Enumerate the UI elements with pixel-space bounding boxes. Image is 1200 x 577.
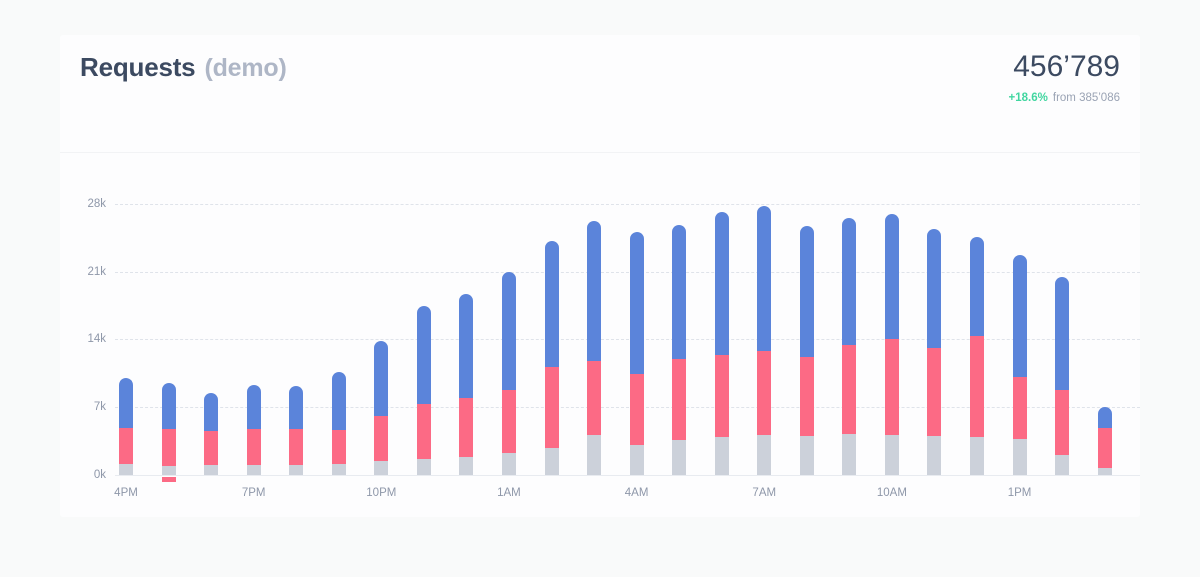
- card-header: Requests (demo) 456’789 +18.6%from 385’0…: [60, 35, 1140, 152]
- chart-bar-segment-cached: [289, 465, 303, 475]
- chart-bar-segment-cached: [417, 459, 431, 475]
- chart-bar-segment-errors: [587, 361, 601, 436]
- chart-bar[interactable]: [459, 294, 473, 475]
- chart-bar[interactable]: [247, 385, 261, 475]
- chart-bar-segment-ok: [885, 214, 899, 339]
- chart-bar-segment-ok: [842, 218, 856, 345]
- chart-bar[interactable]: [672, 225, 686, 475]
- chart-bar-segment-ok: [800, 226, 814, 357]
- x-axis-tick-label: 10AM: [877, 487, 907, 499]
- chart-bar-segment-ok: [289, 386, 303, 429]
- chart-bar[interactable]: [715, 212, 729, 475]
- chart-bar-segment-cached: [630, 445, 644, 475]
- chart-baseline: [115, 475, 1140, 476]
- page-background: Requests (demo) 456’789 +18.6%from 385’0…: [0, 0, 1200, 577]
- chart-bar-segment-cached: [715, 437, 729, 475]
- metric-total-value: 456’789: [1009, 49, 1120, 85]
- chart-bar[interactable]: [545, 241, 559, 475]
- delta-percent-badge: +18.6%: [1009, 92, 1048, 104]
- chart-bar-segment-errors: [757, 351, 771, 435]
- chart-bar-segment-errors: [842, 345, 856, 434]
- chart-bar-segment-ok: [587, 221, 601, 361]
- chart-bar-segment-errors: [545, 367, 559, 447]
- chart-bar-segment-cached: [459, 457, 473, 475]
- chart-bar-segment-ok: [417, 306, 431, 404]
- chart-bar-segment-cached: [672, 440, 686, 475]
- chart-bar-segment-cached: [970, 437, 984, 475]
- chart-bar-segment-cached: [757, 435, 771, 475]
- delta-previous-value: from 385’086: [1053, 92, 1120, 104]
- chart-bar-segment-ok: [374, 341, 388, 416]
- chart-bar-segment-cached: [1055, 455, 1069, 475]
- chart-bar-segment-ok: [630, 232, 644, 374]
- x-axis-tick-label: 7AM: [752, 487, 776, 499]
- chart-bar-segment-errors: [800, 357, 814, 436]
- requests-card: Requests (demo) 456’789 +18.6%from 385’0…: [60, 35, 1140, 517]
- chart-bar-segment-cached: [502, 453, 516, 475]
- card-title-subtitle: (demo): [204, 54, 286, 83]
- card-title-main: Requests: [80, 52, 195, 83]
- chart-bar-segment-cached: [800, 436, 814, 475]
- chart-bar-segment-cached: [885, 435, 899, 475]
- chart-bar-segment-ok: [119, 378, 133, 427]
- chart-bar[interactable]: [204, 393, 218, 475]
- chart-gridline: [115, 272, 1140, 273]
- chart-bar-segment-errors: [672, 359, 686, 440]
- chart-bar-segment-ok: [204, 393, 218, 432]
- chart-bar[interactable]: [332, 372, 346, 475]
- x-axis-tick-label: 7PM: [242, 487, 266, 499]
- y-axis-tick-label: 28k: [46, 198, 106, 210]
- chart-bar-segment-ok: [715, 212, 729, 354]
- x-axis-tick-label: 1PM: [1008, 487, 1032, 499]
- chart-bar-segment-ok: [1098, 407, 1112, 427]
- y-axis-tick-label: 7k: [46, 401, 106, 413]
- chart-bar[interactable]: [1013, 255, 1027, 475]
- chart-bar-segment-errors: [715, 355, 729, 437]
- chart-bar-segment-errors: [332, 430, 346, 464]
- chart-bar[interactable]: [842, 218, 856, 475]
- chart-bar[interactable]: [800, 226, 814, 475]
- chart-bar[interactable]: [757, 206, 771, 475]
- chart-bar-segment-cached: [374, 461, 388, 475]
- requests-bar-chart: 0k7k14k21k28k4PM7PM10PM1AM4AM7AM10AM1PM: [60, 152, 1140, 517]
- page-title: Requests (demo): [80, 52, 287, 83]
- y-axis-tick-label: 21k: [46, 266, 106, 278]
- chart-bar-segment-cached: [1013, 439, 1027, 475]
- x-axis-tick-label: 4PM: [114, 487, 138, 499]
- chart-bar-segment-errors: [119, 428, 133, 465]
- metric-summary: 456’789 +18.6%from 385’086: [1009, 49, 1120, 105]
- chart-bar-segment-ok: [332, 372, 346, 430]
- metric-delta: +18.6%from 385’086: [1009, 91, 1120, 105]
- chart-gridline: [115, 407, 1140, 408]
- chart-bar-segment-errors: [247, 429, 261, 466]
- chart-bar-segment-ok: [1055, 277, 1069, 389]
- x-axis-tick-label: 1AM: [497, 487, 521, 499]
- chart-bar-segment-ok: [1013, 255, 1027, 377]
- chart-bar-segment-cached: [247, 465, 261, 475]
- chart-bar-segment-ok: [162, 383, 176, 429]
- chart-bar[interactable]: [1098, 407, 1112, 475]
- chart-bar-segment-errors: [1098, 428, 1112, 469]
- chart-bar-segment-errors: [502, 390, 516, 453]
- chart-anomaly-marker: [162, 477, 176, 482]
- chart-bar-segment-ok: [927, 229, 941, 348]
- chart-bar[interactable]: [970, 237, 984, 475]
- chart-gridline: [115, 339, 1140, 340]
- chart-bar-segment-cached: [927, 436, 941, 475]
- chart-bar-segment-ok: [459, 294, 473, 398]
- chart-bar-segment-ok: [757, 206, 771, 351]
- chart-bar-segment-ok: [672, 225, 686, 359]
- chart-bar-segment-errors: [630, 374, 644, 445]
- chart-bar[interactable]: [374, 341, 388, 475]
- chart-bar-segment-errors: [885, 339, 899, 435]
- chart-bar-segment-cached: [204, 465, 218, 475]
- x-axis-tick-label: 10PM: [366, 487, 396, 499]
- chart-bar-segment-errors: [970, 336, 984, 438]
- chart-bar-segment-errors: [374, 416, 388, 462]
- chart-bar[interactable]: [587, 221, 601, 475]
- x-axis-tick-label: 4AM: [625, 487, 649, 499]
- chart-bar-segment-errors: [1013, 377, 1027, 439]
- y-axis-tick-label: 14k: [46, 333, 106, 345]
- chart-gridline: [115, 204, 1140, 205]
- y-axis-tick-label: 0k: [46, 469, 106, 481]
- chart-bar-segment-cached: [1098, 468, 1112, 475]
- chart-plot-area: 0k7k14k21k28k4PM7PM10PM1AM4AM7AM10AM1PM: [115, 165, 1140, 497]
- chart-bar-segment-errors: [204, 431, 218, 465]
- chart-bar-segment-ok: [970, 237, 984, 336]
- chart-bar-segment-cached: [842, 434, 856, 475]
- chart-bar-segment-errors: [162, 429, 176, 467]
- chart-bar[interactable]: [502, 272, 516, 475]
- chart-bar[interactable]: [927, 229, 941, 475]
- chart-bar-segment-errors: [1055, 390, 1069, 455]
- chart-bar[interactable]: [119, 378, 133, 475]
- chart-bar-segment-cached: [545, 448, 559, 475]
- chart-bar-segment-errors: [289, 429, 303, 466]
- chart-bar[interactable]: [885, 214, 899, 475]
- chart-bar-segment-cached: [332, 464, 346, 475]
- chart-bar-segment-ok: [502, 272, 516, 390]
- chart-bar-segment-cached: [119, 464, 133, 475]
- chart-bar[interactable]: [289, 386, 303, 475]
- chart-bar-segment-ok: [545, 241, 559, 368]
- chart-bar-segment-errors: [927, 348, 941, 436]
- chart-bar-segment-cached: [162, 466, 176, 475]
- chart-bar-segment-ok: [247, 385, 261, 429]
- chart-bar[interactable]: [1055, 277, 1069, 475]
- chart-bar-segment-errors: [417, 404, 431, 458]
- chart-bar-segment-errors: [459, 398, 473, 457]
- chart-bar[interactable]: [630, 232, 644, 475]
- chart-bar-segment-cached: [587, 435, 601, 475]
- chart-bar[interactable]: [162, 383, 176, 475]
- chart-bar[interactable]: [417, 306, 431, 475]
